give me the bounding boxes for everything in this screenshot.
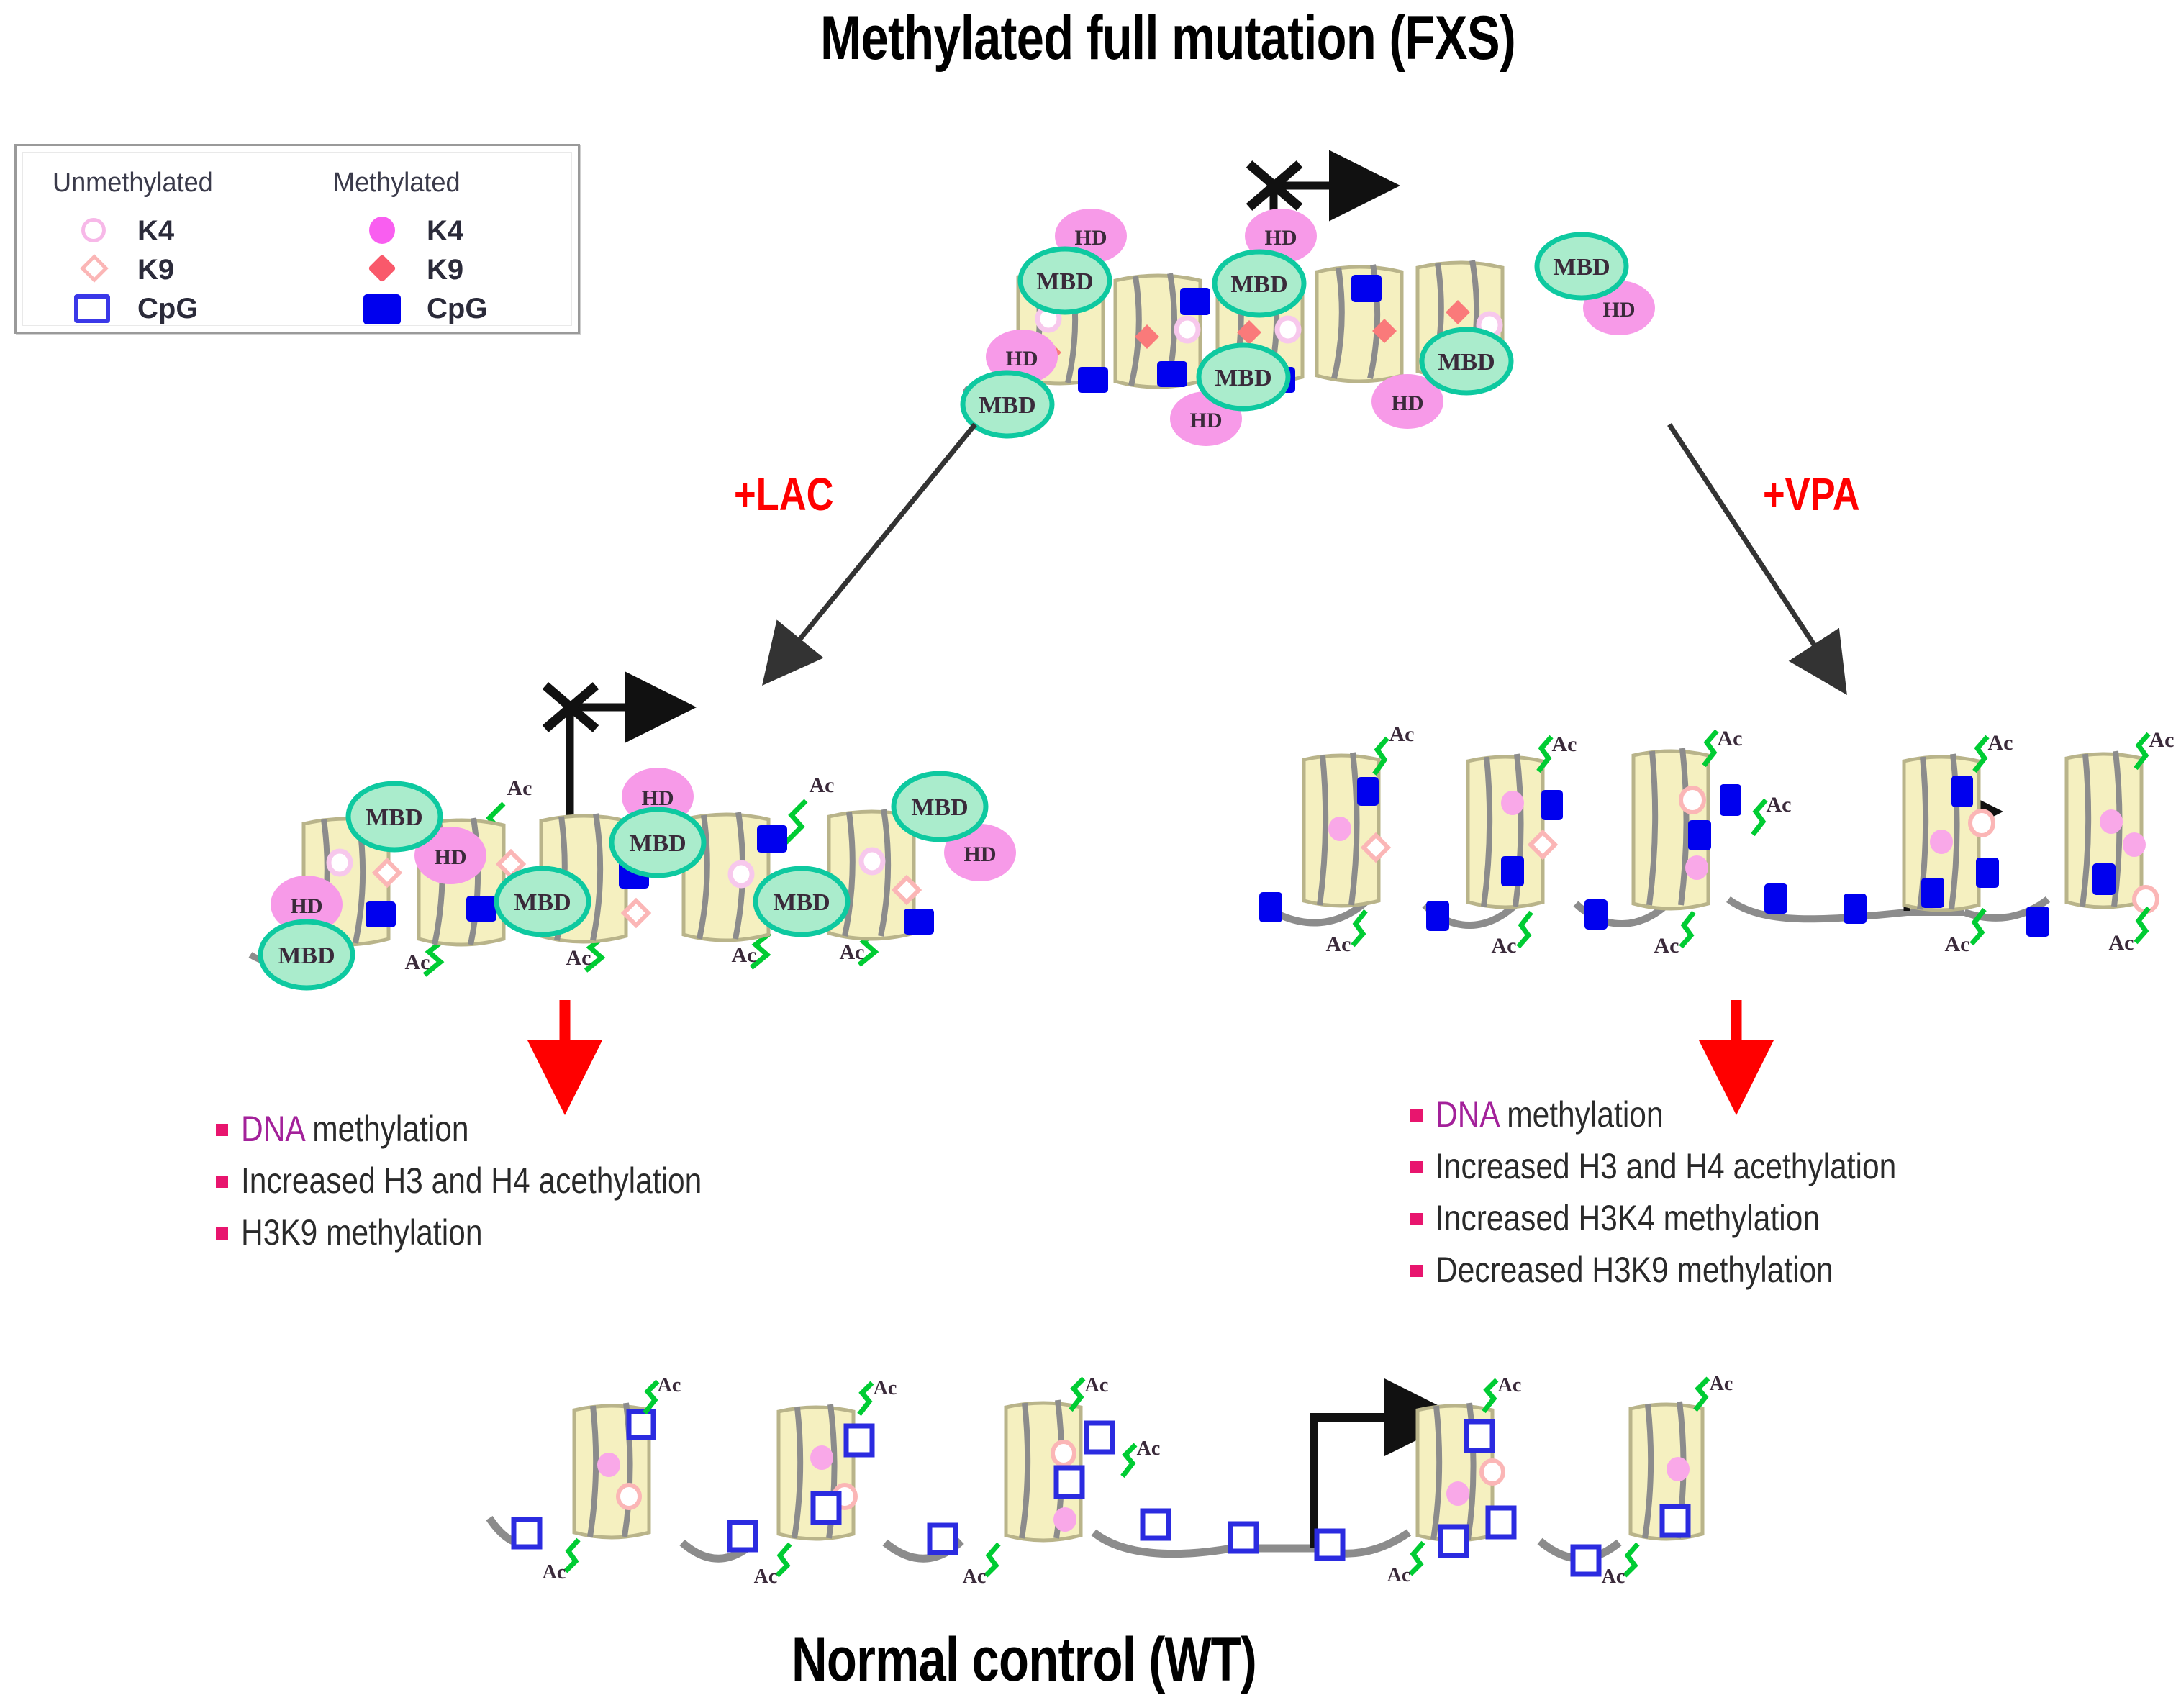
acetyl-label: Ac [874,1377,897,1399]
mbd-marker: MBD [1020,249,1110,312]
hdac-label: HD [1265,226,1297,250]
acetyl-label: Ac [1498,1374,1522,1396]
k4-methylated [1501,791,1524,815]
cpg-unmethylated [730,1522,756,1550]
cpg-unmethylated [1143,1511,1169,1538]
k4-unmethylated [329,851,350,874]
hdac-label: HD [1075,226,1107,250]
acetyl-tail: Ac [645,1374,681,1413]
k4-methylated [1685,855,1708,880]
acetyl-label: Ac [658,1374,681,1396]
k4-methylated [810,1445,833,1470]
cpg-unmethylated [514,1520,540,1547]
k4-unmethylated [730,863,752,886]
acetyl-tail: Ac [1374,722,1414,774]
nucleosome [1418,1403,1599,1574]
k9-filled-diamond-icon [372,258,392,278]
acetyl-label: Ac [840,940,865,964]
acetyl-label: Ac [1945,932,1970,956]
acetyl-tail: Ac [1538,732,1577,771]
k4-methylated [1053,1507,1076,1532]
cpg-methylated [1921,878,1944,908]
acetyl-label: Ac [1389,722,1415,746]
cpg-unmethylated [1573,1547,1599,1574]
hdac-label: HD [435,845,467,869]
outcome-rest: H3K9 methylation [241,1212,482,1253]
list-item: Increased H3 and H4 acethylation [1410,1145,1977,1187]
mbd-label: MBD [1036,268,1093,295]
acetyl-label: Ac [507,776,532,800]
nucleosome [779,1404,956,1553]
mbd-marker: MBD [1422,330,1511,393]
legend-heading-methylated: Methylated [333,168,461,199]
k9-unmethylated [1482,1461,1503,1484]
cpg-methylated [1541,790,1563,820]
cpg-methylated [2026,907,2049,937]
mbd-marker: MBD [894,773,986,840]
acetyl-label: Ac [405,950,430,974]
cpg-unmethylated [930,1525,956,1553]
k4-methylated [1446,1481,1469,1506]
bullet-square-icon [1410,1265,1423,1277]
k4-methylated [2123,832,2146,857]
list-item: H3K9 methylation [216,1212,783,1253]
mbd-marker: MBD [1537,235,1626,298]
acetyl-tail: Ac [754,1544,790,1588]
cpg-methylated [1501,856,1524,886]
cpg-methylated [1764,883,1787,914]
nucleosome [1904,754,2049,937]
mbd-label: MBD [1230,271,1287,298]
cpg-unmethylated [1317,1531,1343,1558]
mbd-label: MBD [911,794,968,821]
cpg-unmethylated [846,1426,872,1455]
hdac-label: HD [291,894,323,918]
mbd-marker: MBD [612,809,704,876]
panel-lac-chromatin: Ac Ac Ac Ac Ac Ac [237,673,1072,989]
acetyl-label: Ac [1710,1373,1733,1395]
k4-methylated [1930,830,1953,854]
nucleosome [514,1403,756,1550]
acetyl-label: Ac [1988,731,2013,755]
outcome-rest: methylation [304,1109,468,1149]
acetyl-tail: Ac [786,773,834,842]
mbd-label: MBD [1553,254,1610,281]
cpg-unmethylated [1488,1508,1514,1537]
cpg-unmethylated [1662,1507,1688,1535]
nucleosome [2067,751,2157,912]
mbd-marker: MBD [348,783,440,850]
nucleosome [1259,753,1449,931]
k4-open-circle-icon [81,218,106,242]
acetyl-tail: Ac [1974,731,2013,771]
acetyl-label: Ac [1767,793,1792,817]
hdac-label: HD [964,842,997,866]
outcome-list-lac: DNA methylation Increased H3 and H4 acet… [216,1108,783,1263]
nucleosome [1006,1400,1343,1558]
acetyl-tail: Ac [1071,1374,1108,1410]
mbd-label: MBD [1215,365,1271,391]
legend-label-k9-unmethylated: K9 [137,254,174,286]
cpg-methylated [904,909,934,935]
hdac-label: HD [1603,298,1636,322]
cpg-filled-square-icon [363,294,401,324]
acetyl-label: Ac [1602,1566,1625,1588]
acetyl-tail: Ac [1753,793,1791,835]
hdac-label: HD [642,786,674,810]
outcome-lead-word: DNA [1436,1094,1498,1135]
acetyl-tail: Ac [543,1540,579,1584]
list-item: DNA methylation [216,1108,783,1150]
bullet-square-icon [216,1227,228,1240]
acetyl-label: Ac [732,943,757,967]
k4-unmethylated [1176,318,1198,341]
acetyl-label: Ac [1718,727,1743,750]
bullet-square-icon [1410,1213,1423,1225]
cpg-open-square-icon [74,294,110,323]
mbd-marker: MBD [260,922,353,988]
k4-methylated [597,1453,620,1477]
bullet-square-icon [1410,1161,1423,1173]
mbd-marker: MBD [756,868,848,935]
page-title-bottom: Normal control (WT) [792,1625,1256,1696]
acetyl-tail: Ac [1654,912,1694,958]
bullet-square-icon [216,1176,228,1188]
mbd-marker: MBD [496,868,589,935]
list-item: DNA methylation [1410,1094,1977,1135]
list-item: Increased H3K4 methylation [1410,1197,1977,1239]
cpg-unmethylated [1056,1468,1082,1496]
cpg-methylated [1951,776,1973,807]
panel-vpa-chromatin: Ac Ac Ac Ac Ac Ac Ac Ac Ac Ac Ac [1259,719,2181,993]
cpg-methylated [1720,784,1741,816]
cpg-unmethylated [1441,1527,1466,1555]
acetyl-tail: Ac [405,940,443,975]
acetyl-label: Ac [754,1566,778,1588]
k9-unmethylated [1970,811,1993,835]
k9-unmethylated [1053,1442,1074,1465]
acetyl-label: Ac [963,1566,987,1588]
acetyl-label: Ac [566,946,591,970]
bullet-square-icon [216,1124,228,1136]
hdac-label: HD [1006,347,1038,371]
cpg-methylated [1844,894,1867,924]
k9-unmethylated [1681,788,1704,812]
acetyl-tail: Ac [2109,908,2149,955]
branch-arrows [0,403,2181,719]
cpg-methylated [1357,777,1379,806]
acetyl-label: Ac [1552,732,1577,756]
legend-label-cpg-unmethylated: CpG [137,293,198,325]
cpg-methylated [1180,288,1210,315]
page-title-top: Methylated full mutation (FXS) [820,3,1515,74]
cpg-methylated [466,896,496,922]
acetyl-label: Ac [1137,1437,1161,1460]
cpg-unmethylated [629,1412,653,1437]
outcome-lead-word: DNA [241,1109,304,1149]
acetyl-label: Ac [1387,1564,1411,1586]
bullet-square-icon [1410,1109,1423,1122]
legend-label-k4-unmethylated: K4 [137,215,174,247]
acetyl-tail: Ac [963,1544,999,1588]
cpg-methylated [1688,820,1711,850]
acetyl-tail: Ac [1484,1374,1521,1412]
cpg-methylated [1351,275,1382,302]
mbd-label: MBD [629,830,686,857]
k9-unmethylated [618,1485,640,1508]
nucleosome [1631,1402,1702,1539]
legend-box: Unmethylated Methylated K4 K4 K9 K9 CpG … [14,144,580,334]
acetyl-label: Ac [1492,934,1517,958]
nucleosome-array [1259,748,2157,937]
cpg-unmethylated [1230,1524,1256,1551]
acetyl-tail: Ac [1695,1373,1733,1410]
acetyl-label: Ac [810,773,835,797]
legend-label-cpg-methylated: CpG [427,293,487,325]
acetyl-label: Ac [1326,932,1351,956]
k9-open-diamond-icon [84,258,104,278]
k4-methylated [2100,809,2123,834]
cpg-unmethylated [1087,1423,1112,1452]
mbd-label: MBD [773,889,830,916]
legend-heading-unmethylated: Unmethylated [53,168,213,199]
acetyl-tail: Ac [1123,1437,1160,1476]
nucleosome [1468,754,1608,930]
list-item: Increased H3 and H4 acethylation [216,1160,783,1201]
cpg-methylated [757,825,787,853]
list-item: Decreased H3K9 methylation [1410,1249,1977,1291]
panel-wt-chromatin: Ac Ac Ac Ac Ac Ac Ac Ac Ac Ac Ac [453,1389,1691,1626]
acetyl-tail: Ac [1704,727,1742,766]
mbd-label: MBD [514,889,571,916]
cpg-methylated [1157,361,1187,387]
outcome-rest: Increased H3 and H4 acethylation [241,1160,702,1201]
acetyl-tail: Ac [1945,909,1985,956]
mbd-marker: MBD [1215,252,1304,315]
outcome-rest: Increased H3K4 methylation [1436,1197,1820,1239]
outcome-rest: Increased H3 and H4 acethylation [1436,1145,1896,1187]
cpg-methylated [1078,367,1108,393]
mbd-label: MBD [278,942,335,969]
acetyl-tail: Ac [2136,728,2174,768]
acetyl-label: Ac [2109,931,2134,955]
legend-label-k4-methylated: K4 [427,215,463,247]
legend-label-k9-methylated: K9 [427,254,463,286]
arrow-to-vpa [1669,424,1828,666]
acetyl-label: Ac [2149,728,2175,752]
cpg-methylated [366,901,396,927]
acetyl-label: Ac [1085,1374,1109,1396]
cpg-methylated [1976,858,1999,888]
k4-methylated [1328,817,1351,841]
k4-filled-circle-icon [369,217,395,244]
cpg-methylated [1426,901,1449,931]
k4-methylated [1667,1457,1690,1481]
nucleosome [1633,748,1867,924]
cpg-methylated [1259,892,1282,922]
linker-dna [1094,1532,1317,1554]
cpg-methylated [1584,899,1608,930]
nucleosome [1115,273,1210,387]
nucleosome [1317,265,1402,381]
cpg-unmethylated [813,1494,839,1522]
acetyl-label: Ac [1654,934,1679,958]
outcome-list-vpa: DNA methylation Increased H3 and H4 acet… [1410,1094,1977,1301]
cpg-unmethylated [1466,1422,1492,1450]
acetyl-tail: Ac [1387,1543,1423,1586]
acetyl-label: Ac [543,1561,566,1584]
outcome-rest: methylation [1498,1094,1663,1135]
outcome-rest: Decreased H3K9 methylation [1436,1249,1833,1291]
k4-unmethylated [1277,318,1299,341]
k4-unmethylated [861,850,883,873]
acetyl-tail: Ac [859,1377,897,1414]
arrow-to-lac [784,424,975,658]
mbd-marker: MBD [1199,345,1288,409]
cpg-methylated [2092,863,2116,895]
mbd-label: MBD [1438,349,1495,376]
mbd-label: MBD [366,804,422,831]
